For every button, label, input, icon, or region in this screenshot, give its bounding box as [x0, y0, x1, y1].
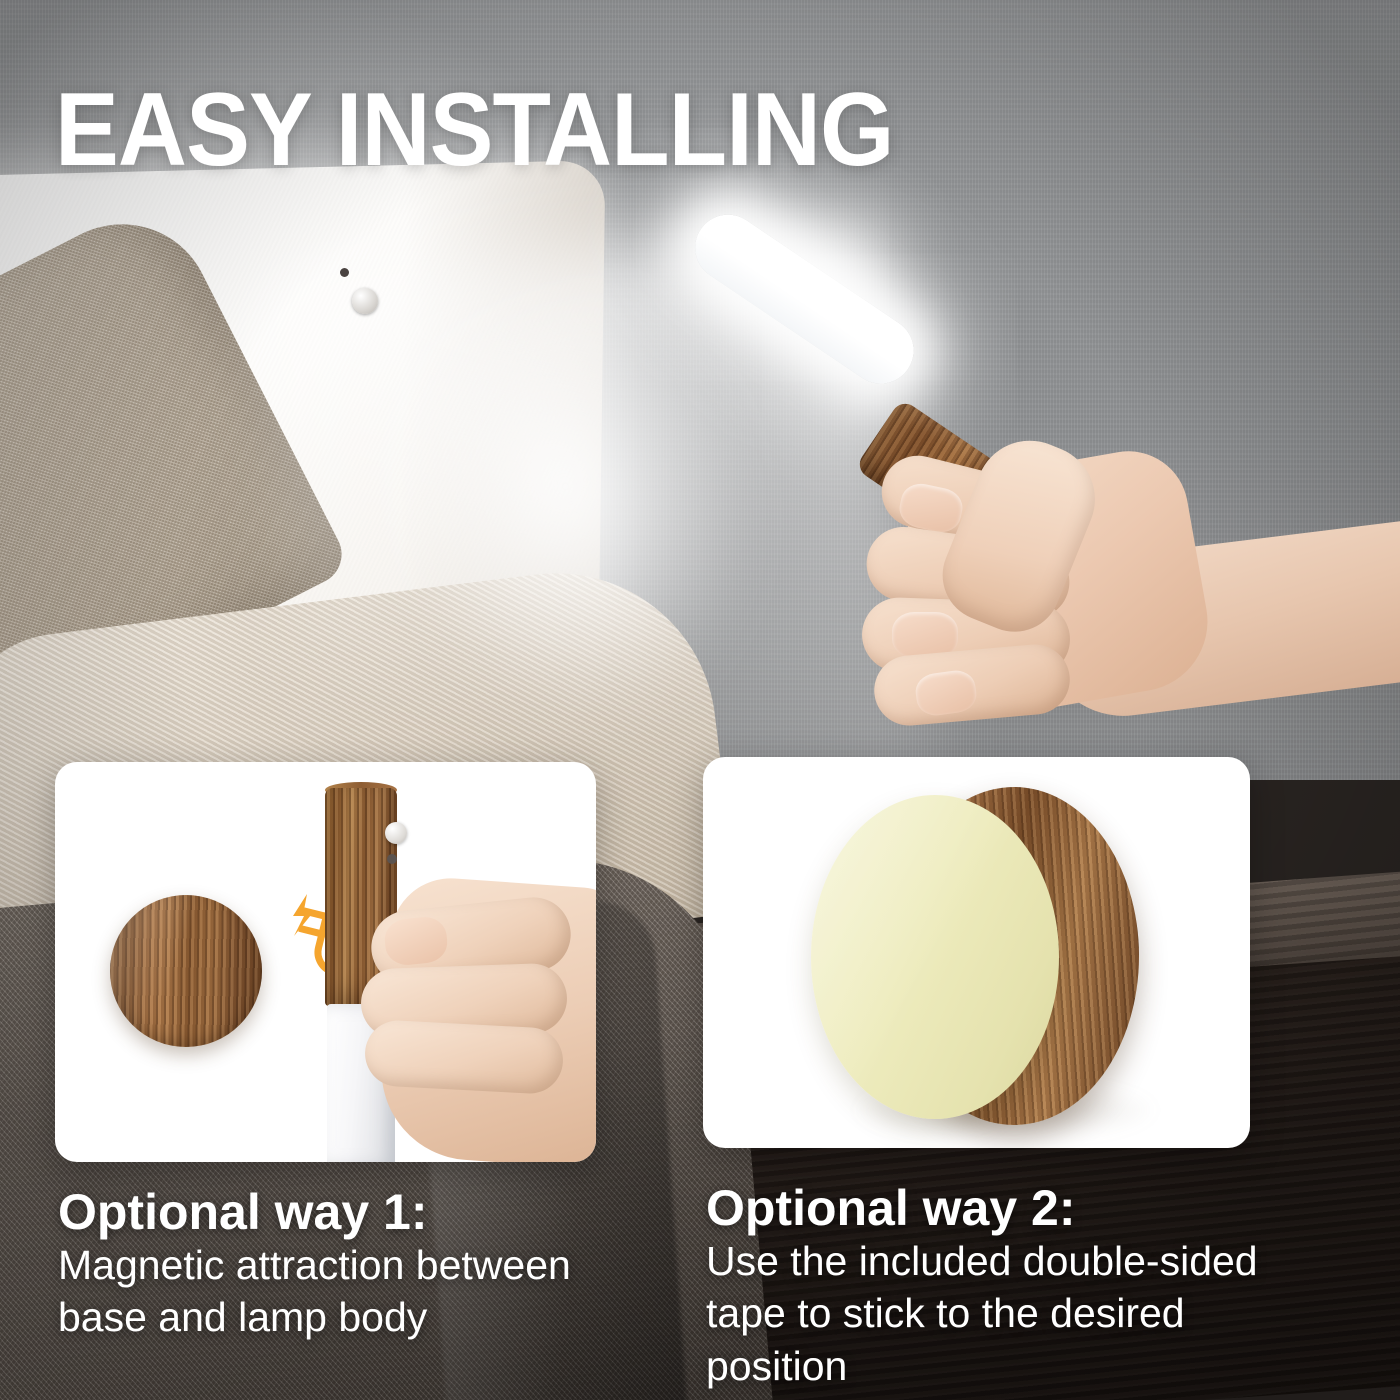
magnetic-base-disc [110, 895, 262, 1047]
motion-sensor-icon [352, 288, 378, 314]
page-title: EASY INSTALLING [55, 78, 894, 182]
option-2-card [703, 757, 1250, 1148]
caption-heading: Optional way 1: [58, 1186, 571, 1239]
disc-highlight [110, 895, 262, 1047]
led-indicator-icon [387, 854, 397, 864]
caption-line: position [706, 1340, 1258, 1392]
tape-highlight [811, 795, 1059, 1119]
product-infographic: EASY INSTALLING [0, 0, 1400, 1400]
caption-line: tape to stick to the desired [706, 1287, 1258, 1339]
caption-line: base and lamp body [58, 1291, 571, 1343]
caption-option-2: Optional way 2: Use the included double-… [706, 1182, 1258, 1392]
caption-heading: Optional way 2: [706, 1182, 1258, 1235]
motion-sensor-icon [385, 822, 407, 844]
caption-option-1: Optional way 1: Magnetic attraction betw… [58, 1186, 571, 1344]
option-1-card [55, 762, 596, 1162]
caption-line: Magnetic attraction between [58, 1239, 571, 1291]
finger [363, 1019, 564, 1095]
caption-line: Use the included double-sided [706, 1235, 1258, 1287]
adhesive-base-disc [803, 781, 1163, 1131]
double-sided-tape-face [811, 795, 1059, 1119]
led-indicator-icon [340, 268, 349, 277]
